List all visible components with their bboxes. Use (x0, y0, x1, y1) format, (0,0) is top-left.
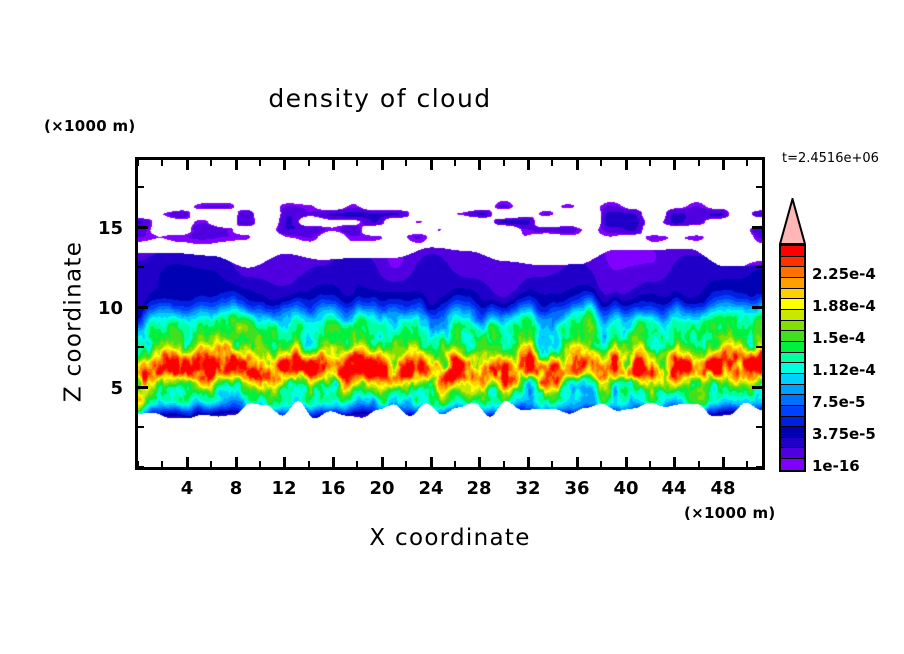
colorbar-band (781, 289, 804, 300)
axis-tick (746, 461, 748, 468)
axis-tick (454, 461, 456, 468)
axis-tick (332, 159, 335, 170)
axis-tick (259, 461, 261, 468)
axis-tick (381, 159, 384, 170)
axis-tick (235, 457, 238, 468)
colorbar-arrow-icon (779, 198, 806, 245)
axis-tick (503, 159, 505, 166)
colorbar-tick-label: 2.25e-4 (812, 265, 876, 283)
colorbar-band (781, 278, 804, 289)
axis-tick (698, 461, 700, 468)
axis-tick (673, 159, 676, 170)
axis-tick (430, 159, 433, 170)
axis-tick (137, 186, 144, 188)
axis-tick (503, 461, 505, 468)
axis-tick (649, 159, 651, 166)
y-tick-label: 5 (73, 378, 123, 399)
axis-tick (137, 266, 144, 268)
colorbar-band (781, 385, 804, 396)
axis-tick (161, 159, 163, 166)
colorbar-tick-label: 3.75e-5 (812, 425, 876, 443)
axis-tick (551, 461, 553, 468)
colorbar-band (781, 246, 804, 257)
axis-tick (283, 159, 286, 170)
axis-tick (649, 461, 651, 468)
colorbar-band (781, 395, 804, 406)
axis-tick (722, 457, 725, 468)
axis-tick (137, 466, 144, 468)
colorbar-band (781, 417, 804, 428)
colorbar[interactable] (779, 244, 806, 472)
axis-tick (454, 159, 456, 166)
axis-tick (625, 159, 628, 170)
axis-tick (625, 457, 628, 468)
axis-tick (756, 346, 763, 348)
axis-tick (752, 226, 763, 229)
axis-tick (478, 457, 481, 468)
axis-tick (527, 457, 530, 468)
axis-tick (210, 461, 212, 468)
axis-tick (137, 386, 148, 389)
axis-tick (752, 386, 763, 389)
colorbar-band (781, 459, 804, 470)
axis-tick (161, 461, 163, 468)
axis-tick (137, 306, 148, 309)
axis-tick (235, 159, 238, 170)
axis-tick (756, 266, 763, 268)
axis-tick (308, 461, 310, 468)
axis-tick (356, 461, 358, 468)
colorbar-band (781, 438, 804, 449)
axis-tick (332, 457, 335, 468)
axis-tick (308, 159, 310, 166)
axis-tick (381, 457, 384, 468)
colorbar-band (781, 406, 804, 417)
colorbar-tick-label: 1.12e-4 (812, 361, 876, 379)
colorbar-band (781, 353, 804, 364)
axis-tick (430, 457, 433, 468)
colorbar-tick-label: 1e-16 (812, 457, 860, 475)
colorbar-band (781, 310, 804, 321)
axis-tick (405, 159, 407, 166)
axis-tick (746, 159, 748, 166)
y-tick-label: 15 (73, 218, 123, 239)
y-tick-label: 10 (73, 298, 123, 319)
y-axis-units-label: (×1000 m) (44, 119, 136, 134)
page-title: density of cloud (0, 86, 760, 111)
colorbar-tick-label: 7.5e-5 (812, 393, 865, 411)
axis-tick (356, 159, 358, 166)
axis-tick (137, 226, 148, 229)
axis-tick (752, 306, 763, 309)
x-axis-label: X coordinate (135, 527, 765, 550)
colorbar-band (781, 267, 804, 278)
colorbar-band (781, 448, 804, 459)
axis-tick (259, 159, 261, 166)
axis-tick (478, 159, 481, 170)
axis-tick (600, 159, 602, 166)
axis-tick (551, 159, 553, 166)
axis-tick (576, 457, 579, 468)
axis-tick (210, 159, 212, 166)
colorbar-band (781, 342, 804, 353)
figure-root: density of cloud (×1000 m) t=2.4516e+06 … (0, 0, 904, 654)
axis-tick (756, 466, 763, 468)
axis-tick (186, 457, 189, 468)
colorbar-band (781, 363, 804, 374)
x-tick-label: 48 (693, 478, 753, 499)
colorbar-band (781, 299, 804, 310)
axis-tick (137, 159, 139, 166)
axis-tick (722, 159, 725, 170)
axis-tick (756, 186, 763, 188)
x-axis-units-label: (×1000 m) (684, 506, 776, 521)
time-annotation: t=2.4516e+06 (782, 152, 879, 165)
colorbar-tick-label: 1.88e-4 (812, 297, 876, 315)
colorbar-tick-label: 1.5e-4 (812, 329, 865, 347)
colorbar-band (781, 257, 804, 268)
axis-tick (698, 159, 700, 166)
axis-tick (527, 159, 530, 170)
axis-tick (137, 426, 144, 428)
axis-tick (405, 461, 407, 468)
plot-area (135, 157, 765, 470)
axis-tick (137, 346, 144, 348)
axis-tick (576, 159, 579, 170)
axis-tick (673, 457, 676, 468)
colorbar-band (781, 427, 804, 438)
axis-tick (600, 461, 602, 468)
colorbar-band (781, 374, 804, 385)
axis-tick (283, 457, 286, 468)
contour-field (138, 160, 762, 467)
colorbar-band (781, 331, 804, 342)
axis-tick (756, 426, 763, 428)
axis-tick (186, 159, 189, 170)
colorbar-band (781, 321, 804, 332)
